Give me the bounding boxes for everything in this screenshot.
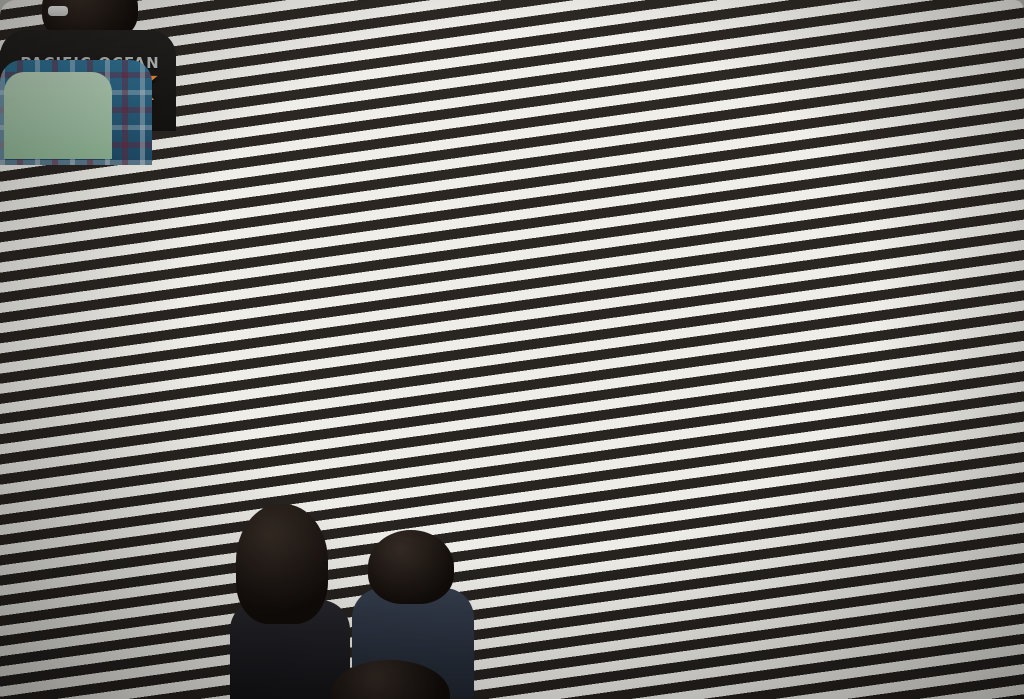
hair-tie: [48, 6, 68, 16]
student-hair: [368, 530, 454, 604]
student-hair: [236, 504, 328, 624]
student-hair: [330, 660, 450, 699]
student-front-center: [330, 660, 450, 699]
student-torso: [4, 72, 112, 159]
lecture-hall-photo: 第一部分：中国共产党的性质 三个代表重要思想 5、怎样理解中国共产党代表先进生产…: [0, 0, 1024, 699]
